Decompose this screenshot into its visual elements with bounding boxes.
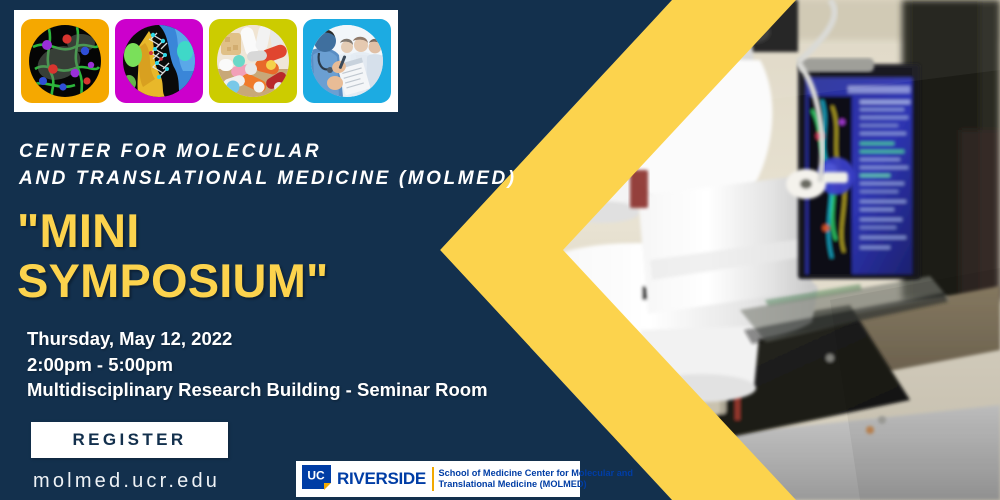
- clinical-team-icon: [311, 25, 383, 97]
- org-name-line-1: CENTER FOR MOLECULAR: [19, 138, 539, 165]
- svg-text:UC: UC: [307, 469, 325, 483]
- event-title-line-1: "MINI: [17, 206, 497, 256]
- uc-banner-icon: UC: [301, 464, 335, 494]
- event-time: 2:00pm - 5:00pm: [27, 352, 547, 378]
- tile-microscopy-cells: [21, 19, 109, 103]
- register-button[interactable]: REGISTER: [31, 422, 228, 458]
- tile-clinical-team: [303, 19, 391, 103]
- event-location: Multidisciplinary Research Building - Se…: [27, 377, 547, 403]
- tile-molecular-structure: [115, 19, 203, 103]
- register-button-label: REGISTER: [72, 430, 186, 450]
- molecular-model-icon: [123, 25, 195, 97]
- pills-capsules-icon: [217, 25, 289, 97]
- org-name-line-2: AND TRANSLATIONAL MEDICINE (MOLMED): [19, 165, 539, 192]
- ucr-molmed-logo[interactable]: UC RIVERSIDE School of Medicine Center f…: [296, 461, 580, 497]
- website-url[interactable]: molmed.ucr.edu: [33, 470, 220, 493]
- uc-shield-icon: UC: [301, 464, 335, 494]
- theme-image-strip: [14, 10, 398, 112]
- event-poster: CENTER FOR MOLECULAR AND TRANSLATIONAL M…: [0, 0, 1000, 500]
- riverside-wordmark: RIVERSIDE: [337, 469, 426, 489]
- lab-microscope-photo: [530, 0, 1000, 500]
- logo-subtext-line-1: School of Medicine Center for Molecular …: [439, 468, 634, 479]
- tile-circle: [311, 25, 383, 97]
- tile-pharmaceutical-pills: [209, 19, 297, 103]
- photo-artwork: [530, 0, 1000, 500]
- event-date: Thursday, May 12, 2022: [27, 326, 547, 352]
- organization-name: CENTER FOR MOLECULAR AND TRANSLATIONAL M…: [19, 138, 539, 192]
- logo-subtext-line-2: Translational Medicine (MOLMED): [439, 479, 634, 490]
- tile-circle: [123, 25, 195, 97]
- event-title-line-2: SYMPOSIUM": [17, 256, 497, 306]
- poster-content: CENTER FOR MOLECULAR AND TRANSLATIONAL M…: [0, 0, 560, 500]
- event-title: "MINI SYMPOSIUM": [17, 206, 497, 306]
- logo-subtext: School of Medicine Center for Molecular …: [439, 468, 634, 491]
- tile-circle: [29, 25, 101, 97]
- logo-divider: [432, 467, 434, 491]
- event-details: Thursday, May 12, 2022 2:00pm - 5:00pm M…: [27, 326, 547, 403]
- tile-circle: [217, 25, 289, 97]
- fluorescence-cells-icon: [29, 25, 101, 97]
